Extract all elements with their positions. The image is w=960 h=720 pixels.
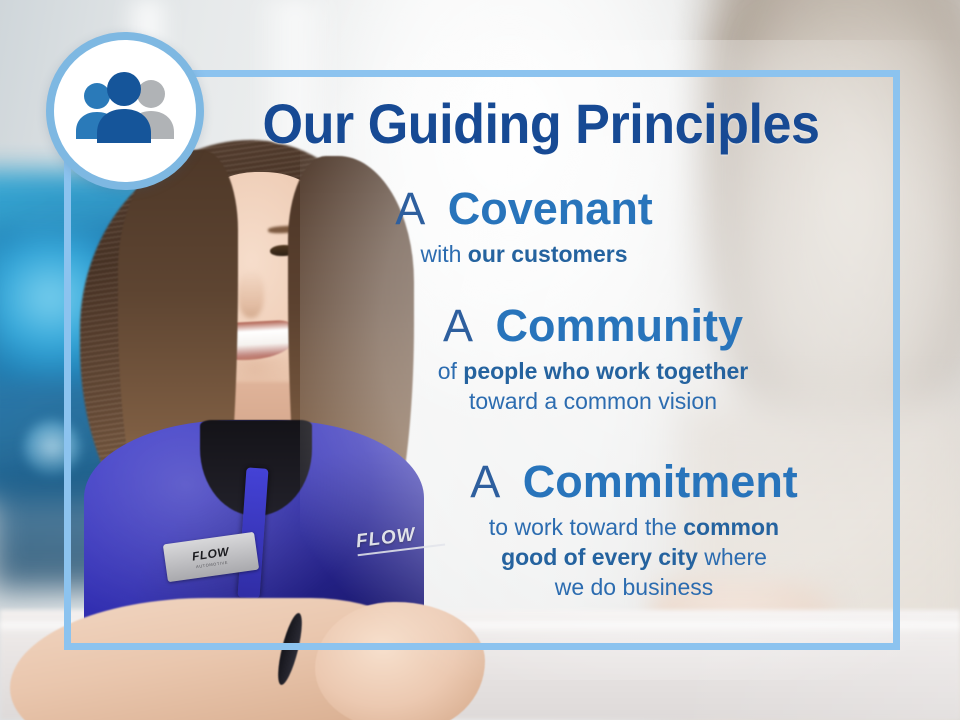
- clasped-hands: [315, 602, 485, 720]
- sales-associate-photo: FLOW AUTOMOTIVE FLOW: [60, 120, 480, 720]
- nose: [238, 270, 264, 318]
- group-people-badge: [46, 32, 204, 190]
- group-people-icon: [69, 72, 181, 150]
- blurred-customer-hair: [760, 30, 960, 450]
- poster-canvas: FLOW AUTOMOTIVE FLOW: [0, 0, 960, 720]
